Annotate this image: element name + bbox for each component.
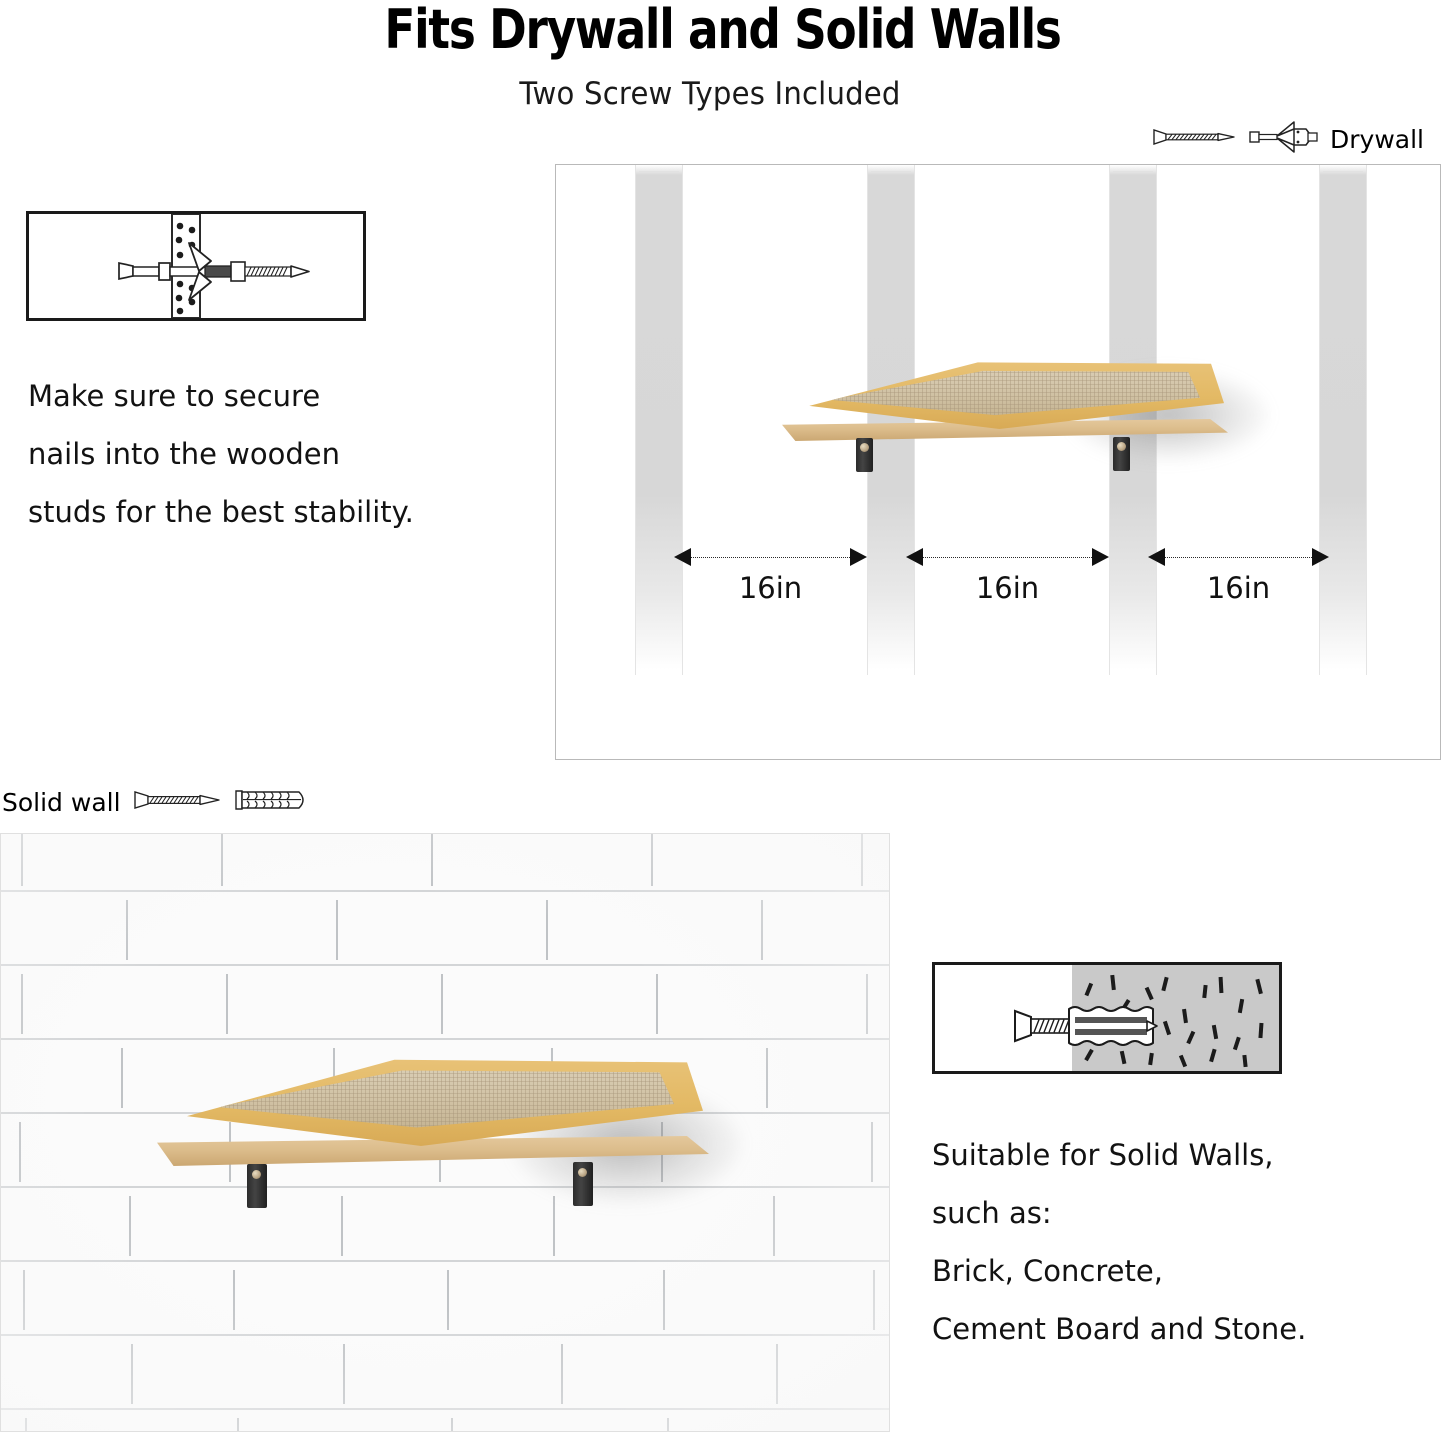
toggle-anchor-icon xyxy=(1248,120,1320,158)
brick-course xyxy=(0,892,890,966)
solid-note-line-1: Suitable for Solid Walls, xyxy=(932,1126,1402,1184)
wood-screw-icon xyxy=(131,787,223,817)
legend-solid-wall-label: Solid wall xyxy=(2,788,121,817)
solid-wall-instruction-note: Suitable for Solid Walls, such as: Brick… xyxy=(932,1126,1402,1358)
arrow-right-icon xyxy=(850,548,867,566)
arrow-right-icon xyxy=(1312,548,1329,566)
note-line-2: nails into the wooden xyxy=(28,425,488,483)
dimension-line xyxy=(921,557,1094,558)
shelf-bracket xyxy=(856,438,873,472)
page-subtitle: Two Screw Types Included xyxy=(43,76,1378,112)
shelf-mat-weave xyxy=(810,369,1204,417)
page-title: Fits Drywall and Solid Walls xyxy=(116,2,1330,59)
arrow-left-icon xyxy=(674,548,691,566)
cat-shelf-product xyxy=(776,355,1236,465)
solid-note-line-2: such as: xyxy=(932,1184,1402,1242)
wood-screw-icon xyxy=(1150,125,1238,153)
note-line-3: studs for the best stability. xyxy=(28,483,488,541)
solid-wall-cutaway-diagram xyxy=(932,962,1282,1074)
shelf-bracket xyxy=(573,1162,593,1206)
arrow-right-icon xyxy=(1092,548,1109,566)
dimension-label: 16in xyxy=(1148,571,1329,605)
brick-course xyxy=(0,1188,890,1262)
wall-plug-anchor-icon xyxy=(233,786,313,818)
note-line-1: Make sure to secure xyxy=(28,367,488,425)
brick-course xyxy=(0,1410,890,1432)
drywall-instruction-note: Make sure to secure nails into the woode… xyxy=(28,367,488,541)
bracket-screw-icon xyxy=(252,1170,261,1179)
brick-course xyxy=(0,1262,890,1336)
brick-course xyxy=(0,966,890,1040)
solid-note-line-4: Cement Board and Stone. xyxy=(932,1300,1402,1358)
legend-solid-wall: Solid wall xyxy=(2,786,313,818)
brick-course xyxy=(0,1336,890,1410)
stud-spacing-diagram-panel: 16in 16in 16in xyxy=(555,164,1441,760)
shelf-bracket xyxy=(1113,437,1130,471)
cat-shelf-product xyxy=(151,1054,721,1199)
solid-note-line-3: Brick, Concrete, xyxy=(932,1242,1402,1300)
dimension-label: 16in xyxy=(906,571,1109,605)
dimension-line xyxy=(1163,557,1314,558)
brick-wall-photo xyxy=(0,833,890,1432)
arrow-left-icon xyxy=(1148,548,1165,566)
legend-drywall: Drywall xyxy=(1150,120,1424,158)
shelf-mat-weave xyxy=(193,1068,679,1130)
bracket-screw-icon xyxy=(860,443,869,452)
dimension-line xyxy=(689,557,852,558)
bracket-screw-icon xyxy=(1117,442,1126,451)
drywall-cutaway-diagram xyxy=(26,211,366,321)
shelf-bracket xyxy=(247,1164,267,1208)
dimension-label: 16in xyxy=(674,571,867,605)
arrow-left-icon xyxy=(906,548,923,566)
brick-course xyxy=(0,833,890,892)
legend-drywall-label: Drywall xyxy=(1330,125,1424,154)
bracket-screw-icon xyxy=(578,1168,587,1177)
